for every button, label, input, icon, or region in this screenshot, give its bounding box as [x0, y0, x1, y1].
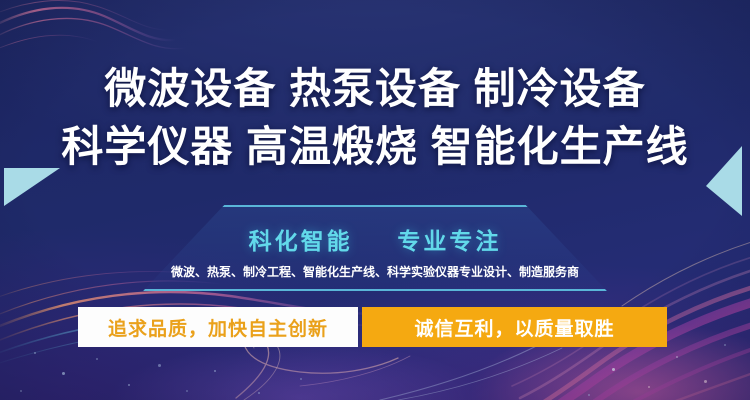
trapezoid-badge: 科化智能 专业专注 微波、热泵、制冷工程、智能化生产线、科学实验仪器专业设计、制… — [143, 205, 607, 291]
badge-slogan-left: 科化智能 — [249, 228, 353, 254]
slogan-strip: 追求品质，加快自主创新 诚信互利，以质量取胜 — [78, 307, 667, 347]
right-triangle-lower-icon — [706, 186, 742, 216]
promotional-banner: 微波设备 热泵设备 制冷设备 科学仪器 高温煅烧 智能化生产线 科化智能 专业专… — [0, 0, 750, 400]
slogan-panel-integrity: 诚信互利，以质量取胜 — [362, 307, 667, 347]
slogan-panel-quality: 追求品质，加快自主创新 — [78, 307, 358, 347]
headline-line-2: 科学仪器 高温煅烧 智能化生产线 — [0, 118, 750, 176]
headline-line-1: 微波设备 热泵设备 制冷设备 — [0, 60, 750, 118]
headline-block: 微波设备 热泵设备 制冷设备 科学仪器 高温煅烧 智能化生产线 — [0, 60, 750, 176]
badge-description: 微波、热泵、制冷工程、智能化生产线、科学实验仪器专业设计、制造服务商 — [171, 263, 579, 280]
badge-slogan-right: 专业专注 — [397, 228, 501, 254]
badge-slogan-row: 科化智能 专业专注 — [249, 222, 502, 256]
